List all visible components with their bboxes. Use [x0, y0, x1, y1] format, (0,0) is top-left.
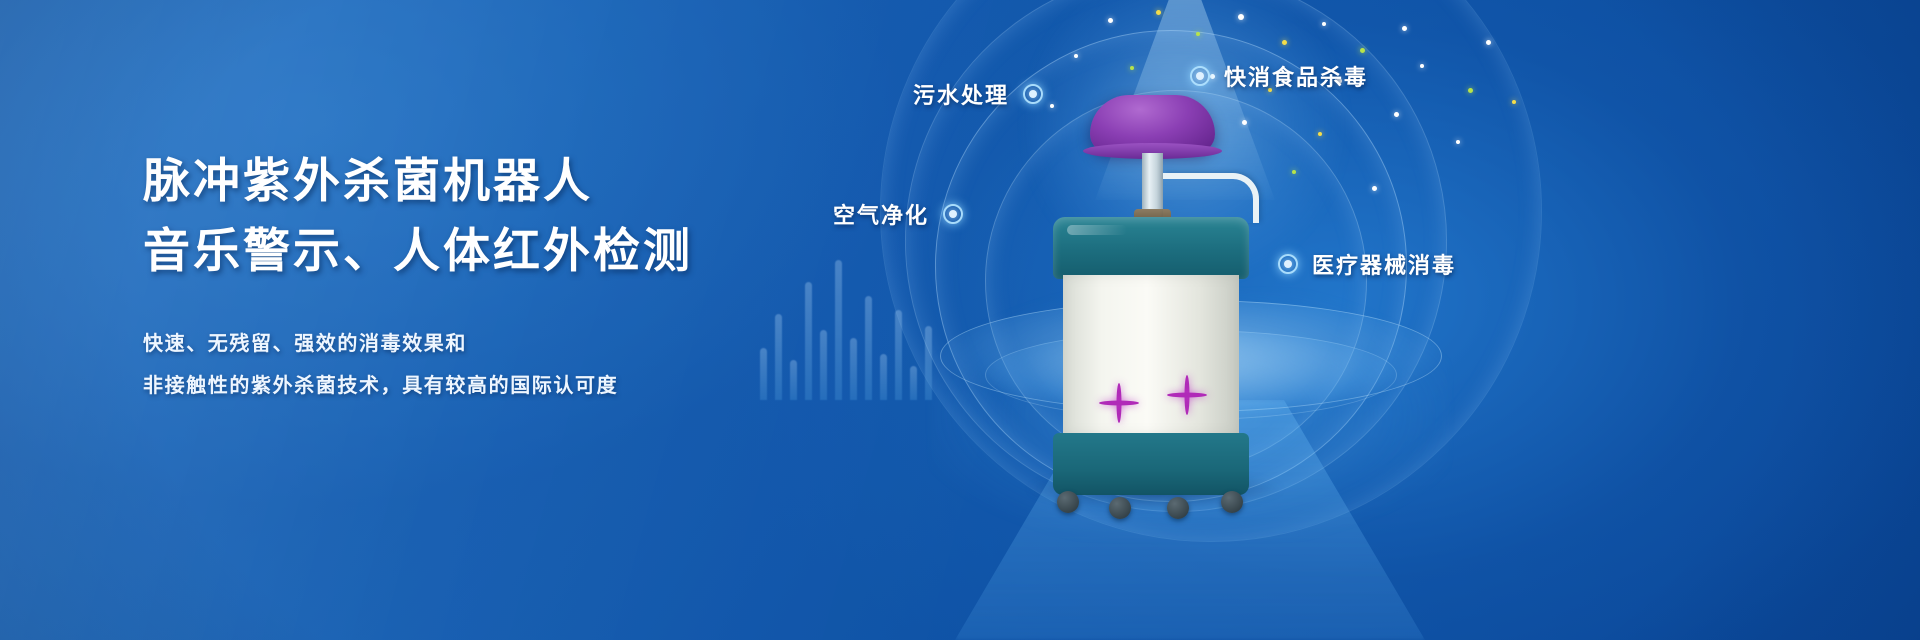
robot-wheel [1057, 491, 1079, 513]
subtitle-line-2: 非接触性的紫外杀菌技术，具有较高的国际认可度 [143, 364, 863, 406]
glow-node-icon [1190, 66, 1210, 86]
callout-label: 污水处理 [913, 78, 1009, 110]
headline-line-1: 脉冲紫外杀菌机器人 [143, 150, 863, 214]
robot-handle [1163, 173, 1259, 223]
robot-mid-panel: LEIKE LEIKE [1063, 275, 1239, 435]
robot-top-housing [1053, 217, 1249, 279]
robot-wheel [1167, 497, 1189, 519]
robot-wheel [1109, 497, 1131, 519]
uv-burst-icon [1099, 383, 1139, 423]
callout-wastewater[interactable]: 污水处理 [913, 78, 1043, 110]
callout-medical[interactable]: 医疗器械消毒 [1278, 248, 1456, 280]
subtitle-block: 快速、无残留、强效的消毒效果和 非接触性的紫外杀菌技术，具有较高的国际认可度 [143, 322, 863, 406]
callout-label: 医疗器械消毒 [1312, 248, 1456, 280]
glow-node-icon [943, 204, 963, 224]
glow-node-icon [1278, 254, 1298, 274]
robot-wheel [1221, 491, 1243, 513]
subtitle-line-1: 快速、无残留、强效的消毒效果和 [143, 322, 863, 364]
product-banner: LEIKE LEIKE 污水处理 快消食品杀毒 空气净化 医疗器械消毒 脉冲紫外… [0, 0, 1920, 640]
robot-pole [1142, 153, 1163, 215]
glow-node-icon [1023, 84, 1043, 104]
callout-label: 快消食品杀毒 [1224, 60, 1368, 92]
headline-block: 脉冲紫外杀菌机器人 音乐警示、人体红外检测 快速、无残留、强效的消毒效果和 非接… [143, 150, 863, 406]
headline-line-2: 音乐警示、人体红外检测 [143, 220, 863, 284]
uv-robot-illustration: LEIKE LEIKE [1035, 95, 1265, 485]
callout-food[interactable]: 快消食品杀毒 [1190, 60, 1368, 92]
uv-burst-icon [1167, 375, 1207, 415]
robot-base-housing [1053, 433, 1249, 495]
